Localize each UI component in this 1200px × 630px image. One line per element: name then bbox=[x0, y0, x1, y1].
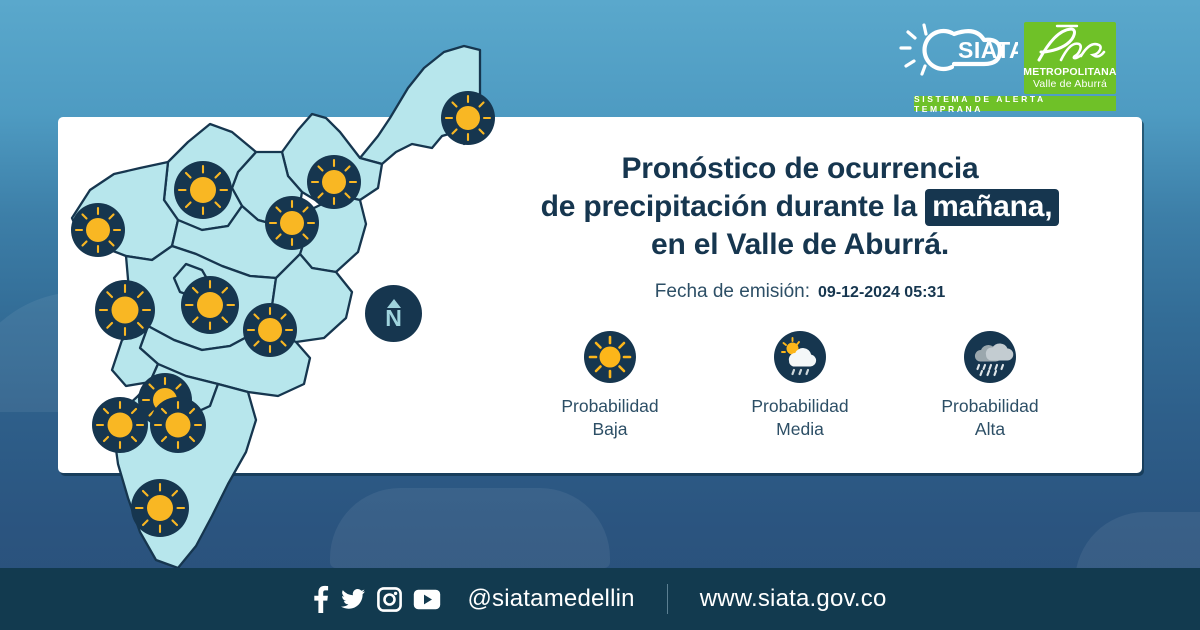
map-marker-copacabana bbox=[265, 196, 319, 250]
title-line-2-text: de precipitación durante la bbox=[541, 190, 917, 223]
title-line-3: en el Valle de Aburrá. bbox=[541, 226, 1060, 264]
legend-label-media: Probabilidad Media bbox=[751, 395, 848, 441]
sun-rain-cloud-icon bbox=[774, 331, 826, 383]
issue-date-value: 09-12-2024 05:31 bbox=[818, 284, 945, 302]
title-line-2: de precipitación durante la mañana, bbox=[541, 188, 1060, 226]
siata-tagline-text: SISTEMA DE ALERTA TEMPRANA bbox=[914, 94, 1116, 114]
siata-logo: SIATA bbox=[898, 22, 1018, 90]
issue-date: Fecha de emisión: 09-12-2024 05:31 bbox=[655, 281, 945, 303]
map-marker-bello bbox=[181, 276, 239, 334]
siata-wordmark: SIATA bbox=[958, 37, 1018, 63]
legend-item-alta: Probabilidad Alta bbox=[900, 331, 1080, 441]
legend-item-baja: Probabilidad Baja bbox=[520, 331, 700, 441]
map-marker-sabaneta bbox=[92, 397, 148, 453]
map-marker-san-jeronimo bbox=[174, 161, 232, 219]
rain-cloud-icon bbox=[964, 331, 1016, 383]
valle-de-aburra-map: N bbox=[60, 40, 480, 580]
siata-tagline-bar: SISTEMA DE ALERTA TEMPRANA bbox=[914, 96, 1116, 111]
logo-group: SIATA METROPOLITANA Valle de Aburrá SIST… bbox=[898, 22, 1116, 112]
legend-label-baja: Probabilidad Baja bbox=[561, 395, 658, 441]
area-logo-line1: METROPOLITANA bbox=[1023, 66, 1116, 78]
youtube-icon[interactable] bbox=[413, 589, 441, 610]
legend-label-line2: Alta bbox=[941, 418, 1038, 441]
twitter-icon[interactable] bbox=[340, 586, 366, 612]
map-marker-caldas bbox=[131, 479, 189, 537]
instagram-icon[interactable] bbox=[377, 587, 402, 612]
social-icons bbox=[313, 585, 441, 613]
area-script-text bbox=[1024, 23, 1116, 67]
sun-icon bbox=[584, 331, 636, 383]
footer-divider bbox=[667, 584, 668, 614]
page-title: Pronóstico de ocurrencia de precipitació… bbox=[541, 150, 1060, 264]
legend-label-line1: Probabilidad bbox=[941, 395, 1038, 418]
social-handle[interactable]: @siatamedellin bbox=[467, 585, 634, 613]
map-marker-girardota bbox=[307, 155, 361, 209]
facebook-icon[interactable] bbox=[313, 585, 329, 613]
map-marker-la-estrella bbox=[150, 397, 206, 453]
legend-item-media: Probabilidad Media bbox=[710, 331, 890, 441]
map-marker-ebejico bbox=[71, 203, 125, 257]
map-marker-san-antonio bbox=[95, 280, 155, 340]
compass-north-letter: N bbox=[385, 307, 402, 329]
area-metropolitana-logo: METROPOLITANA Valle de Aburrá bbox=[1024, 22, 1116, 94]
map-marker-medellin bbox=[243, 303, 297, 357]
legend-label-line1: Probabilidad bbox=[561, 395, 658, 418]
area-logo-line2: Valle de Aburrá bbox=[1033, 78, 1107, 90]
issue-date-label: Fecha de emisión: bbox=[655, 281, 810, 303]
forecast-content: Pronóstico de ocurrencia de precipitació… bbox=[470, 150, 1130, 441]
compass-north-indicator: N bbox=[365, 285, 422, 342]
probability-legend: Probabilidad Baja bbox=[520, 331, 1080, 441]
title-line-1: Pronóstico de ocurrencia bbox=[541, 150, 1060, 188]
footer-bar: @siatamedellin www.siata.gov.co bbox=[0, 568, 1200, 630]
legend-label-alta: Probabilidad Alta bbox=[941, 395, 1038, 441]
map-marker-barbosa bbox=[441, 91, 495, 145]
legend-label-line1: Probabilidad bbox=[751, 395, 848, 418]
website-url[interactable]: www.siata.gov.co bbox=[700, 585, 887, 613]
legend-label-line2: Media bbox=[751, 418, 848, 441]
title-highlight-period: mañana, bbox=[925, 189, 1059, 226]
legend-label-line2: Baja bbox=[561, 418, 658, 441]
